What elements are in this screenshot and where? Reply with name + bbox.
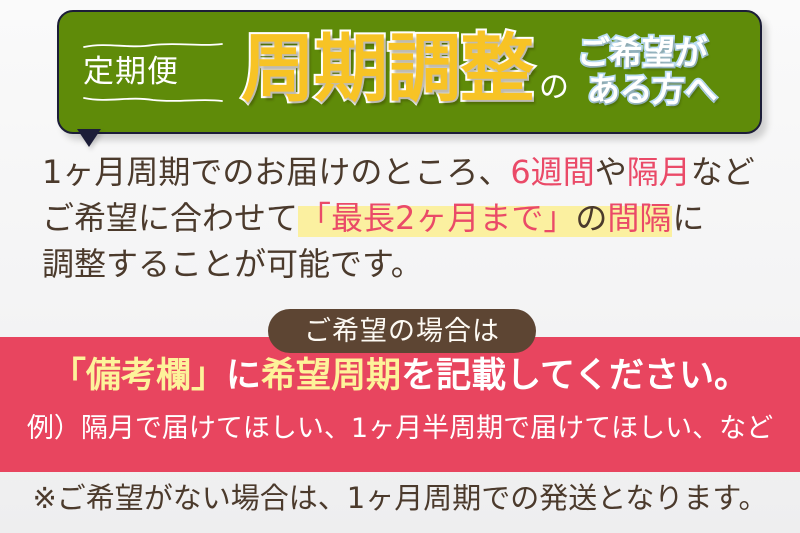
subscription-badge: 定期便 — [79, 29, 229, 116]
header-audience-line-1: ご希望が — [577, 35, 717, 72]
body-line-1-part-b: や — [595, 153, 627, 191]
body-line-2-highlight-plain: の — [575, 199, 607, 237]
instruction-headline-accent-2: 希望周期 — [261, 356, 401, 396]
condition-pill-badge-label: ご希望の場合は — [304, 318, 500, 345]
speech-bubble-tail-icon — [78, 130, 100, 146]
instruction-pink-band: 「備考欄」に希望周期を記載してください。 例）隔月で届けてほしい、1ヶ月半周期で… — [0, 337, 800, 472]
body-line-2-part-a: ご希望に合わせて — [42, 199, 298, 237]
body-line-1: 1ヶ月周期でのお届けのところ、6週間や隔月など — [42, 150, 772, 196]
body-line-2: ご希望に合わせて「最長2ヶ月まで」の間隔に — [42, 196, 772, 242]
body-line-1-accent-2: 隔月 — [627, 153, 691, 191]
subscription-badge-label: 定期便 — [83, 57, 223, 88]
header-speech-bubble: 定期便 周期調整 の ご希望が ある方へ — [57, 10, 762, 134]
instruction-headline-part-2: を記載してください。 — [401, 356, 749, 396]
footer-note: ※ご希望がない場合は、1ヶ月周期での発送となります。 — [0, 484, 800, 513]
wave-line-top-icon — [83, 41, 223, 50]
header-particle: の — [539, 62, 569, 106]
instruction-headline-part-1: に — [226, 356, 261, 396]
body-line-1-part-a: 1ヶ月周期でのお届けのところ、 — [42, 153, 510, 191]
instruction-headline: 「備考欄」に希望周期を記載してください。 — [0, 359, 800, 394]
body-line-2-highlight-accent-2: 間隔 — [607, 199, 671, 237]
instruction-example-text: 例）隔月で届けてほしい、1ヶ月半周期で届けてほしい、など — [0, 415, 800, 442]
header-audience-line-2: ある方へ — [587, 72, 717, 109]
wave-line-bottom-icon — [83, 95, 223, 104]
condition-pill-badge: ご希望の場合は — [268, 309, 536, 353]
body-line-2-highlight: 「最長2ヶ月まで」の間隔 — [298, 199, 672, 237]
body-line-2-highlight-accent-1: 「最長2ヶ月まで」 — [299, 199, 575, 237]
body-line-3: 調整することが可能です。 — [42, 242, 772, 288]
header-audience-text: ご希望が ある方へ — [577, 35, 717, 109]
body-line-1-accent-1: 6週間 — [510, 153, 594, 191]
body-line-1-part-c: など — [691, 153, 755, 191]
instruction-headline-accent-1: 「備考欄」 — [51, 356, 226, 396]
promo-banner: 定期便 周期調整 の ご希望が ある方へ 1ヶ月周期でのお届けのところ、6週間や… — [0, 0, 800, 533]
body-line-2-part-b: に — [672, 199, 704, 237]
body-paragraph: 1ヶ月周期でのお届けのところ、6週間や隔月など ご希望に合わせて「最長2ヶ月まで… — [42, 150, 772, 287]
header-main-title: 周期調整 — [241, 32, 533, 106]
